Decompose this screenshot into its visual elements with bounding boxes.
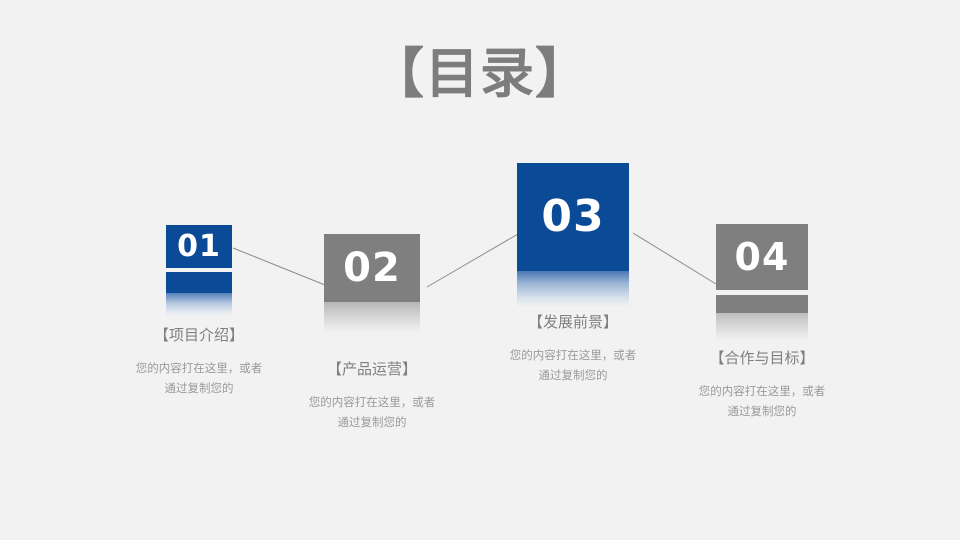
caption-body-04: 您的内容打在这里，或者 通过复制您的 bbox=[696, 381, 828, 421]
number-stack-03: 03 bbox=[517, 163, 629, 307]
number-label-02: 02 bbox=[343, 248, 401, 288]
caption-03: 【发展前景】 您的内容打在这里，或者 通过复制您的 bbox=[507, 313, 639, 385]
caption-body-line-2: 通过复制您的 bbox=[133, 378, 265, 398]
number-label-03: 03 bbox=[541, 195, 604, 239]
caption-title-03: 【发展前景】 bbox=[507, 313, 639, 333]
number-stack-02: 02 bbox=[324, 234, 420, 333]
caption-01: 【项目介绍】 您的内容打在这里，或者 通过复制您的 bbox=[133, 326, 265, 398]
caption-body-line-2: 通过复制您的 bbox=[306, 412, 438, 432]
caption-02: 【产品运营】 您的内容打在这里，或者 通过复制您的 bbox=[306, 360, 438, 432]
caption-title-02: 【产品运营】 bbox=[306, 360, 438, 380]
number-reflection-01 bbox=[166, 293, 232, 317]
number-box-03[interactable]: 03 bbox=[517, 163, 629, 271]
caption-body-line-1: 您的内容打在这里，或者 bbox=[306, 392, 438, 412]
number-band-04 bbox=[716, 295, 808, 313]
number-box-01[interactable]: 01 bbox=[166, 225, 232, 268]
connector-line-02-03 bbox=[427, 234, 518, 287]
caption-body-line-1: 您的内容打在这里，或者 bbox=[696, 381, 828, 401]
caption-body-line-1: 您的内容打在这里，或者 bbox=[133, 358, 265, 378]
caption-body-02: 您的内容打在这里，或者 通过复制您的 bbox=[306, 392, 438, 432]
caption-body-line-2: 通过复制您的 bbox=[696, 401, 828, 421]
number-band-01 bbox=[166, 272, 232, 293]
connector-line-01-02 bbox=[233, 248, 325, 285]
caption-body-line-1: 您的内容打在这里，或者 bbox=[507, 345, 639, 365]
number-box-02[interactable]: 02 bbox=[324, 234, 420, 302]
connector-line-03-04 bbox=[633, 233, 716, 284]
number-reflection-03 bbox=[517, 271, 629, 307]
page-title: 【目录】 bbox=[0, 46, 960, 103]
number-label-01: 01 bbox=[177, 232, 221, 262]
number-reflection-04 bbox=[716, 313, 808, 341]
number-stack-04: 04 bbox=[716, 224, 808, 341]
number-reflection-02 bbox=[324, 302, 420, 333]
caption-body-line-2: 通过复制您的 bbox=[507, 365, 639, 385]
number-box-04[interactable]: 04 bbox=[716, 224, 808, 290]
slide-canvas: 【目录】 01 【项目介绍】 您的内容打在这里，或者 通过复制您的 02 bbox=[0, 0, 960, 540]
number-label-04: 04 bbox=[735, 238, 790, 276]
number-stack-01: 01 bbox=[166, 225, 232, 317]
caption-body-03: 您的内容打在这里，或者 通过复制您的 bbox=[507, 345, 639, 385]
caption-title-01: 【项目介绍】 bbox=[133, 326, 265, 346]
caption-04: 【合作与目标】 您的内容打在这里，或者 通过复制您的 bbox=[696, 349, 828, 421]
caption-title-04: 【合作与目标】 bbox=[696, 349, 828, 369]
caption-body-01: 您的内容打在这里，或者 通过复制您的 bbox=[133, 358, 265, 398]
